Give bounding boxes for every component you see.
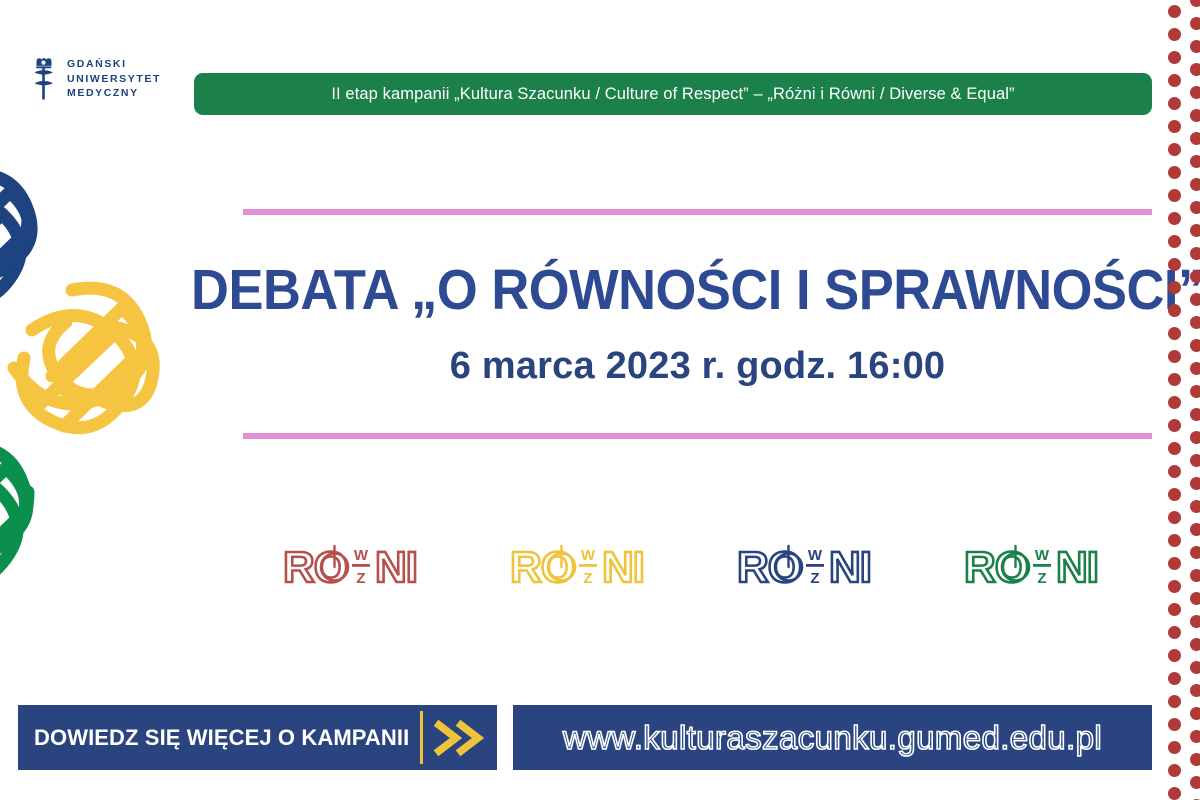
rowni-fraction-bar: [579, 564, 597, 567]
border-dot: [1190, 178, 1200, 191]
border-dot: [1190, 132, 1200, 145]
border-dot: [1168, 74, 1181, 87]
border-dot: [1190, 385, 1200, 398]
border-dot: [1190, 86, 1200, 99]
border-dot: [1190, 615, 1200, 628]
border-dot: [1168, 649, 1181, 662]
border-dot: [1190, 546, 1200, 559]
border-dot: [1190, 431, 1200, 444]
border-dot: [1190, 316, 1200, 329]
border-dot: [1190, 500, 1200, 513]
rowni-fraction-denominator: Z: [583, 570, 592, 587]
border-dot: [1168, 764, 1181, 777]
border-dot: [1168, 120, 1181, 133]
border-dot: [1190, 661, 1200, 674]
rowni-fraction-numerator: W: [354, 547, 369, 564]
event-datetime: 6 marca 2023 r. godz. 16:00: [450, 346, 945, 388]
border-dot: [1168, 97, 1181, 110]
border-dot: [1168, 442, 1181, 455]
border-dot: [1190, 293, 1200, 306]
border-dot: [1168, 28, 1181, 41]
celtic-knot-graphic: [0, 150, 222, 610]
border-dot: [1168, 5, 1181, 18]
border-dot: [1190, 408, 1200, 421]
rowni-prefix: RO: [510, 543, 574, 592]
border-dot: [1168, 672, 1181, 685]
border-dot: [1190, 247, 1200, 260]
border-dot: [1168, 741, 1181, 754]
border-dot: [1168, 511, 1181, 524]
border-dot: [1190, 477, 1200, 490]
border-dot: [1190, 730, 1200, 743]
border-dot: [1168, 396, 1181, 409]
rowni-logo-red: ROWZNI: [281, 537, 433, 595]
border-dot: [1190, 339, 1200, 352]
cta-label: DOWIEDZ SIĘ WIĘCEJ O KAMPANII: [18, 725, 420, 751]
rowni-suffix: NI: [602, 543, 644, 592]
border-dot: [1168, 787, 1181, 800]
border-dot: [1190, 109, 1200, 122]
campaign-url-text: www.kulturaszacunku.gumed.edu.pl: [563, 719, 1102, 757]
border-dot: [1190, 201, 1200, 214]
border-dot: [1168, 695, 1181, 708]
gumed-logo: GDAŃSKI UNIWERSYTET MEDYCZNY: [28, 57, 161, 101]
border-dot: [1168, 718, 1181, 731]
border-dot: [1168, 235, 1181, 248]
rowni-fraction-denominator: Z: [1038, 570, 1047, 587]
border-dot: [1168, 419, 1181, 432]
learn-more-cta-bar[interactable]: DOWIEDZ SIĘ WIĘCEJ O KAMPANII: [18, 705, 497, 770]
rowni-fraction-bar: [806, 564, 824, 567]
border-dot: [1168, 166, 1181, 179]
rowni-logo-navy: ROWZNI: [735, 537, 887, 595]
knot-segment-navy: [0, 175, 31, 302]
border-dot: [1168, 580, 1181, 593]
border-dot: [1190, 0, 1200, 7]
border-dot: [1190, 362, 1200, 375]
headline-block: DEBATA „O RÓWNOŚCI I SPRAWNOŚCI” 6 marca…: [243, 215, 1152, 433]
border-dot: [1168, 143, 1181, 156]
rowni-logo-row: ROWZNIROWZNIROWZNIROWZNI: [243, 520, 1152, 612]
border-dot: [1168, 534, 1181, 547]
poster-canvas: GDAŃSKI UNIWERSYTET MEDYCZNY II etap kam…: [0, 0, 1200, 800]
rowni-prefix: RO: [737, 543, 801, 592]
border-dot: [1168, 304, 1181, 317]
border-dot: [1190, 523, 1200, 536]
rowni-fraction-bar: [1033, 564, 1051, 567]
border-dot: [1168, 258, 1181, 271]
rowni-fraction-bar: [352, 564, 370, 567]
border-dot: [1168, 281, 1181, 294]
border-dot: [1190, 707, 1200, 720]
rowni-suffix: NI: [829, 543, 871, 592]
border-dot: [1190, 753, 1200, 766]
campaign-banner-text: II etap kampanii „Kultura Szacunku / Cul…: [331, 85, 1014, 104]
border-dot: [1168, 212, 1181, 225]
gumed-wordmark-line-2: UNIWERSYTET: [67, 73, 161, 85]
gumed-wordmark-line-1: GDAŃSKI: [67, 58, 161, 70]
gumed-caduceus-emblem-icon: [28, 57, 58, 101]
event-title: DEBATA „O RÓWNOŚCI I SPRAWNOŚCI”: [191, 260, 1200, 320]
border-dot: [1190, 155, 1200, 168]
border-dot: [1168, 626, 1181, 639]
campaign-banner: II etap kampanii „Kultura Szacunku / Cul…: [194, 73, 1152, 115]
dot-border-column-right: [1190, 0, 1200, 800]
border-dot: [1168, 350, 1181, 363]
gumed-wordmark-line-3: MEDYCZNY: [67, 87, 161, 99]
rowni-fraction-denominator: Z: [811, 570, 820, 587]
rowni-fraction-numerator: W: [581, 547, 596, 564]
border-dot: [1168, 557, 1181, 570]
border-dot: [1190, 638, 1200, 651]
knot-segment-green: [0, 448, 28, 582]
border-dot: [1168, 465, 1181, 478]
rowni-fraction-denominator: Z: [356, 570, 365, 587]
dot-border-column-left: [1168, 0, 1182, 800]
border-dot: [1190, 40, 1200, 53]
border-dot: [1190, 569, 1200, 582]
border-dot: [1190, 592, 1200, 605]
border-dot: [1168, 327, 1181, 340]
border-dot: [1190, 776, 1200, 789]
rowni-logo-green: ROWZNI: [962, 537, 1114, 595]
rowni-prefix: RO: [283, 543, 347, 592]
border-dot: [1190, 224, 1200, 237]
border-dot: [1168, 488, 1181, 501]
double-chevron-right-icon: [423, 720, 497, 756]
border-dot: [1168, 189, 1181, 202]
campaign-url-bar[interactable]: www.kulturaszacunku.gumed.edu.pl: [513, 705, 1152, 770]
rowni-suffix: NI: [1056, 543, 1098, 592]
divider-rule-bottom: [243, 433, 1152, 439]
rowni-fraction-numerator: W: [808, 547, 823, 564]
gumed-wordmark: GDAŃSKI UNIWERSYTET MEDYCZNY: [67, 58, 161, 99]
border-dot: [1168, 51, 1181, 64]
border-dot: [1168, 373, 1181, 386]
border-dot: [1168, 603, 1181, 616]
rowni-logo-yellow: ROWZNI: [508, 537, 660, 595]
border-dot: [1190, 684, 1200, 697]
border-dot: [1190, 17, 1200, 30]
rowni-fraction-numerator: W: [1035, 547, 1050, 564]
border-dot: [1190, 63, 1200, 76]
border-dot: [1190, 270, 1200, 283]
rowni-prefix: RO: [964, 543, 1028, 592]
rowni-suffix: NI: [375, 543, 417, 592]
border-dot: [1190, 454, 1200, 467]
knot-segment-yellow: [14, 288, 153, 428]
